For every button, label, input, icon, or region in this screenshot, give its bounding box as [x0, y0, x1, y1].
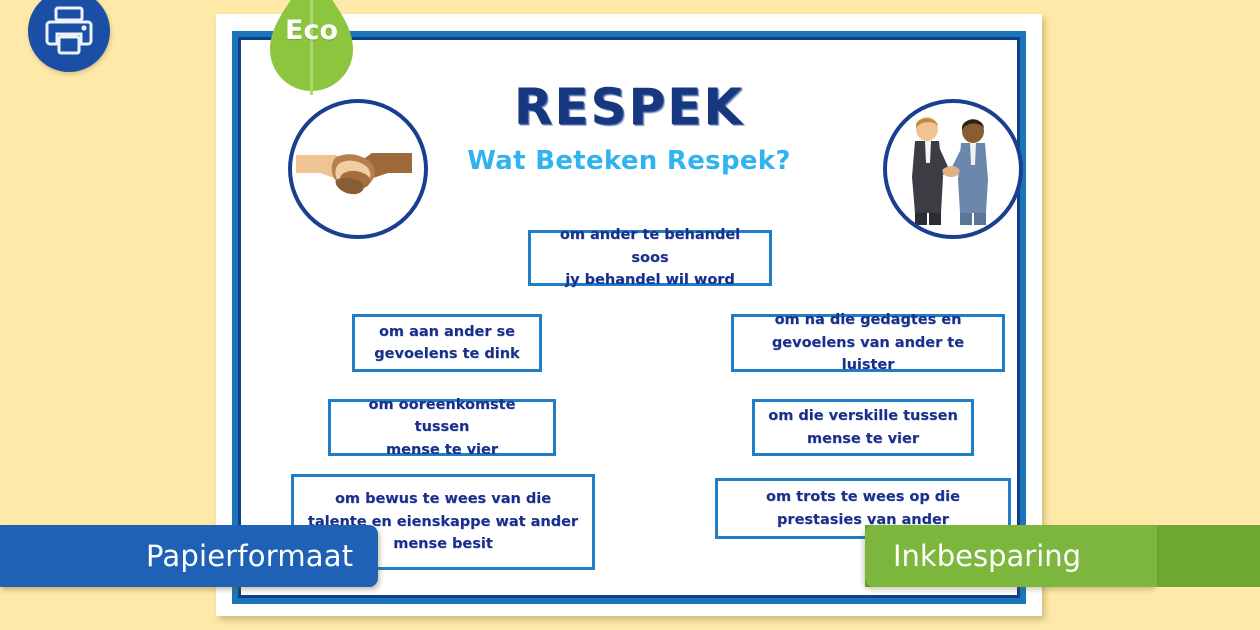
statement-text: om aan ander se gevoelens te dink — [374, 321, 519, 366]
businessmen-handshake-illustration — [883, 99, 1023, 239]
paper-format-banner[interactable]: Papierformaat — [0, 525, 378, 587]
poster-header: RESPEK Wat Beteken Respek? — [238, 81, 1020, 221]
statement-box: om ander te behandel soos jy behandel wi… — [528, 230, 772, 286]
paper-format-label: Papierformaat — [146, 525, 353, 587]
statement-text: om ander te behandel soos jy behandel wi… — [541, 224, 759, 291]
statement-box: om aan ander se gevoelens te dink — [352, 314, 542, 372]
statement-text: om ooreenkomste tussen mense te vier — [341, 394, 543, 461]
two-businessmen-icon — [887, 103, 1011, 227]
statement-text: om die verskille tussen mense te vier — [768, 405, 958, 450]
statement-text: om na die gedagtes en gevoelens van ande… — [744, 309, 992, 376]
statement-box: om na die gedagtes en gevoelens van ande… — [731, 314, 1005, 372]
statement-box: om die verskille tussen mense te vier — [752, 399, 974, 456]
printer-glyph — [43, 5, 95, 57]
eco-label: Eco — [264, 0, 359, 62]
poster-border-frame: RESPEK Wat Beteken Respek? — [232, 31, 1026, 604]
statement-box: om ooreenkomste tussen mense te vier — [328, 399, 556, 456]
ink-saving-banner[interactable]: Inkbesparing — [865, 525, 1260, 587]
printer-icon — [28, 0, 110, 72]
ink-saving-banner-inner: Inkbesparing — [865, 525, 1157, 587]
ink-saving-label: Inkbesparing — [893, 525, 1081, 587]
